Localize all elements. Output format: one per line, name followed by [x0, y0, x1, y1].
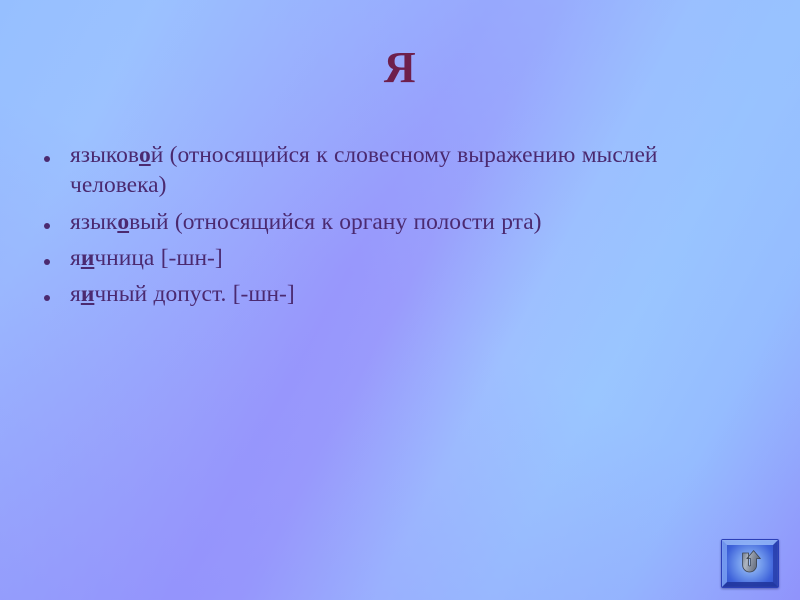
stressed-vowel: и: [81, 245, 95, 271]
bullet-marker-icon: [44, 140, 70, 165]
list-item-text-after: вый (относящийся к органу полости рта): [129, 209, 541, 235]
list-item-text: яичный допуст. [-шн-]: [70, 279, 760, 309]
return-button[interactable]: [721, 539, 779, 588]
list-item-text-after: чный допуст. [-шн-]: [94, 281, 294, 307]
slide-canvas: Я языковой (относящийся к словесному выр…: [0, 0, 800, 600]
list-item-text: языковый (относящийся к органу полости р…: [70, 207, 760, 237]
list-item: яичный допуст. [-шн-]: [44, 279, 760, 309]
list-item-text-before: я: [70, 245, 81, 271]
stressed-vowel: о: [117, 209, 129, 235]
list-item: языковой (относящийся к словесному выраж…: [44, 140, 760, 201]
stressed-vowel: и: [81, 281, 95, 307]
list-item-text-before: я: [70, 281, 81, 307]
list-item-text: яичница [-шн-]: [70, 243, 760, 273]
list-item-text-after: й (относящийся к словесному выражению мы…: [70, 142, 658, 198]
u-turn-arrow-icon: [722, 540, 778, 587]
list-item: языковый (относящийся к органу полости р…: [44, 207, 760, 237]
bullet-marker-icon: [44, 279, 70, 304]
bullet-marker-icon: [44, 207, 70, 232]
bullet-marker-icon: [44, 243, 70, 268]
list-item-text-before: языков: [70, 142, 139, 168]
list-item-text: языковой (относящийся к словесному выраж…: [70, 140, 760, 201]
stressed-vowel: о: [139, 142, 151, 168]
bullet-list: языковой (относящийся к словесному выраж…: [44, 140, 760, 316]
list-item-text-before: язык: [70, 209, 117, 235]
page-title: Я: [0, 44, 800, 92]
list-item: яичница [-шн-]: [44, 243, 760, 273]
list-item-text-after: чница [-шн-]: [94, 245, 222, 271]
